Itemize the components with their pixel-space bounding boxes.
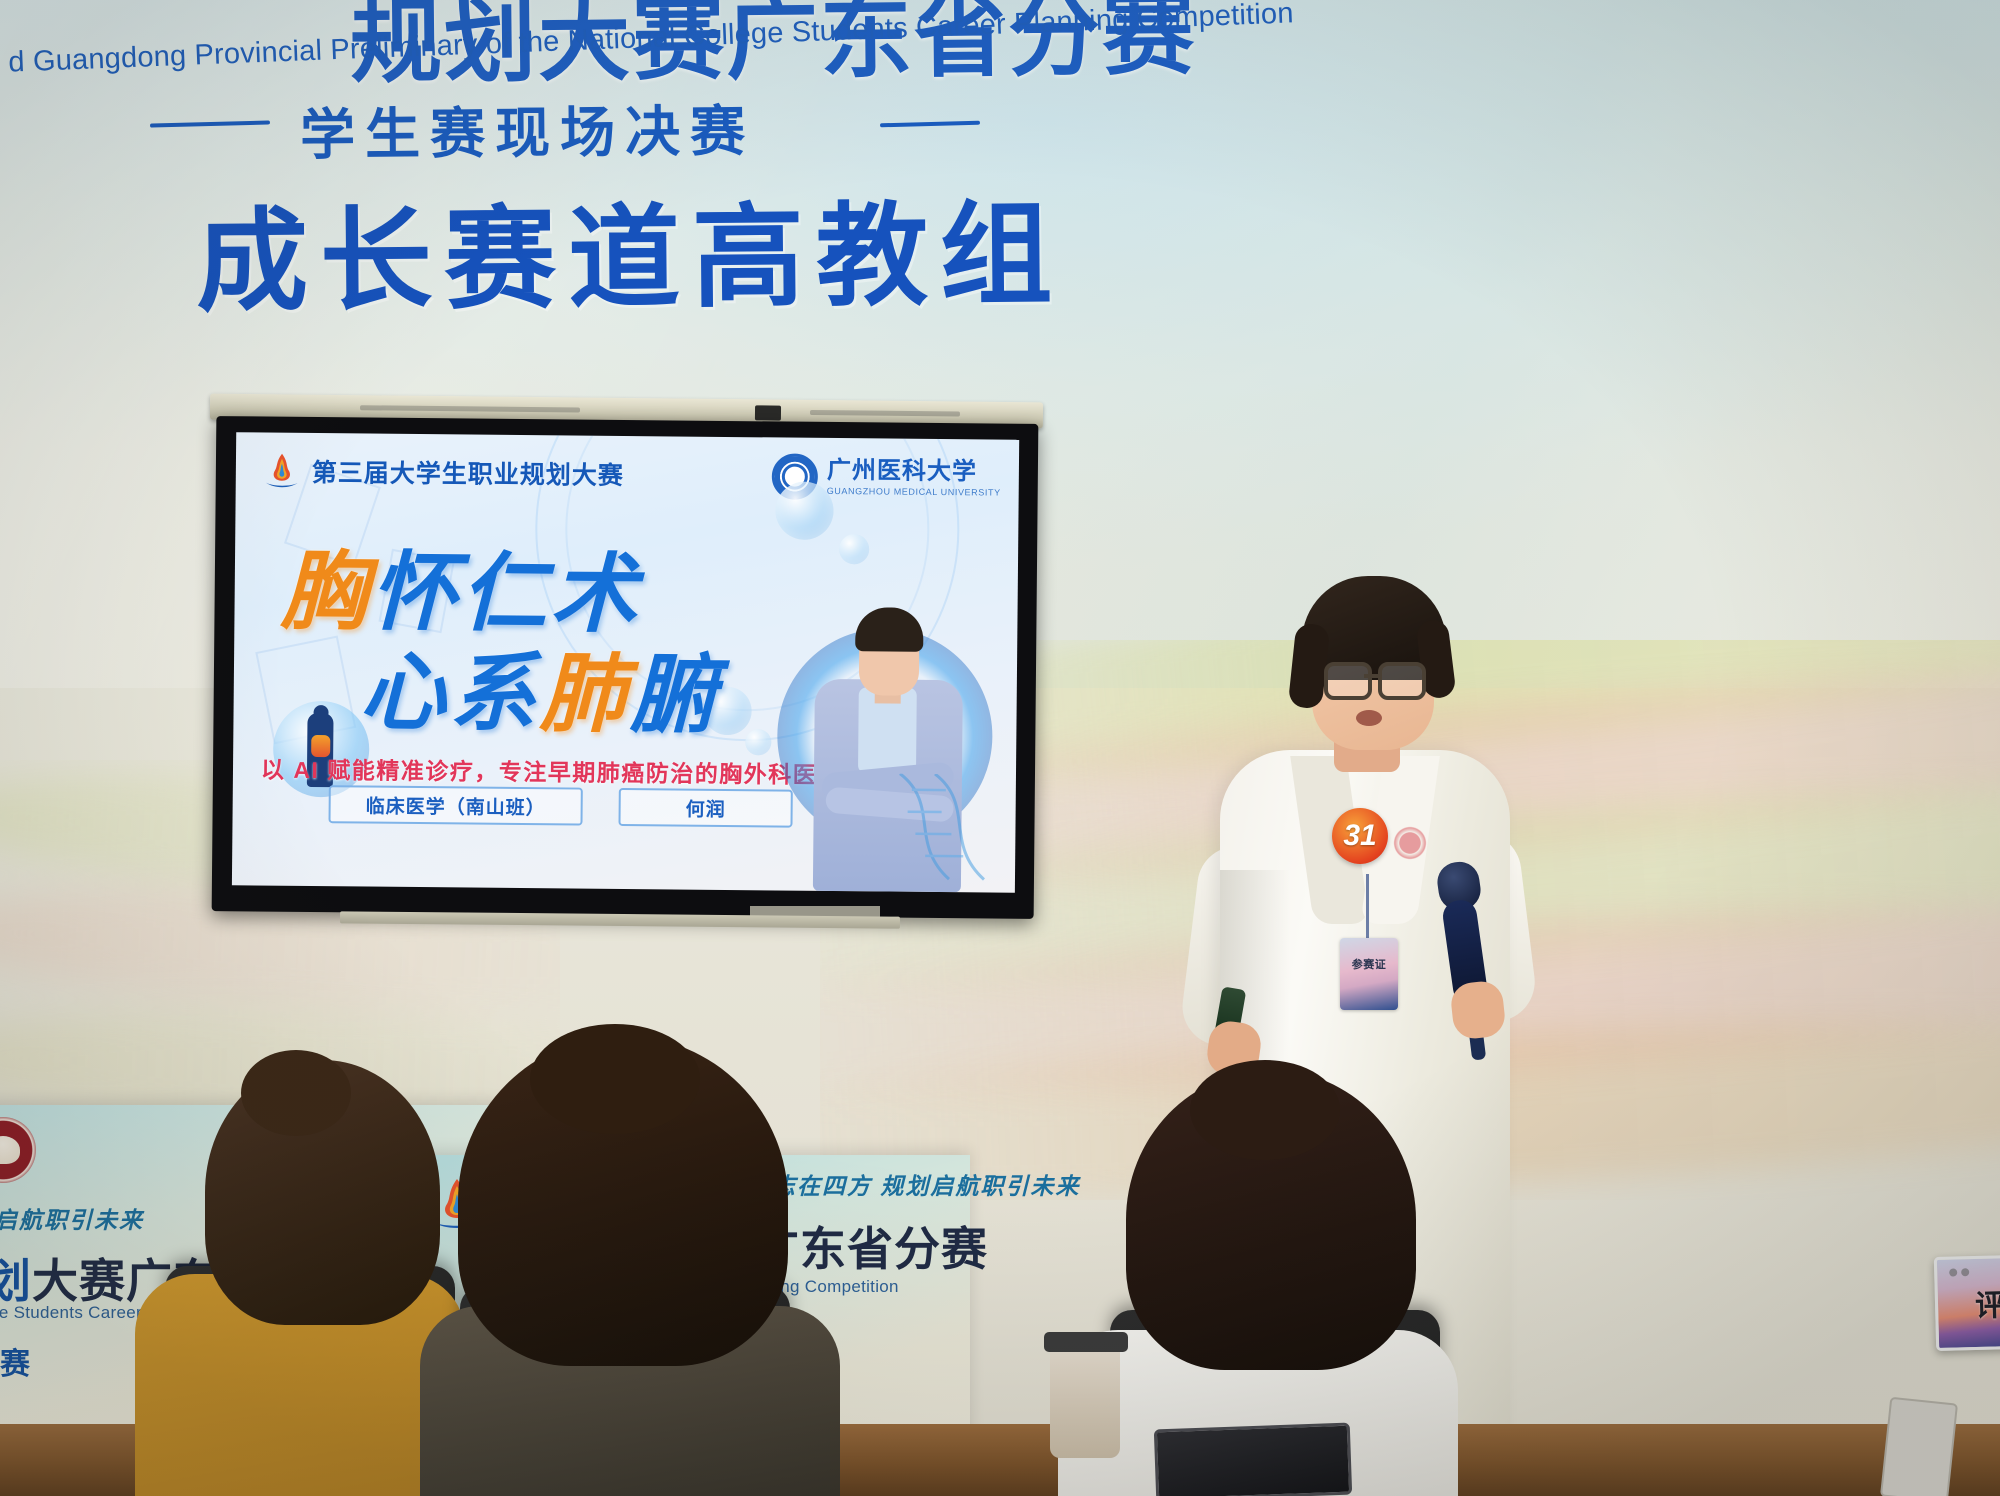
photo-vignette	[0, 0, 2000, 1496]
photo-scene: 规划大赛广东省分赛 d Guangdong Provincial Prelimi…	[0, 0, 2000, 1496]
